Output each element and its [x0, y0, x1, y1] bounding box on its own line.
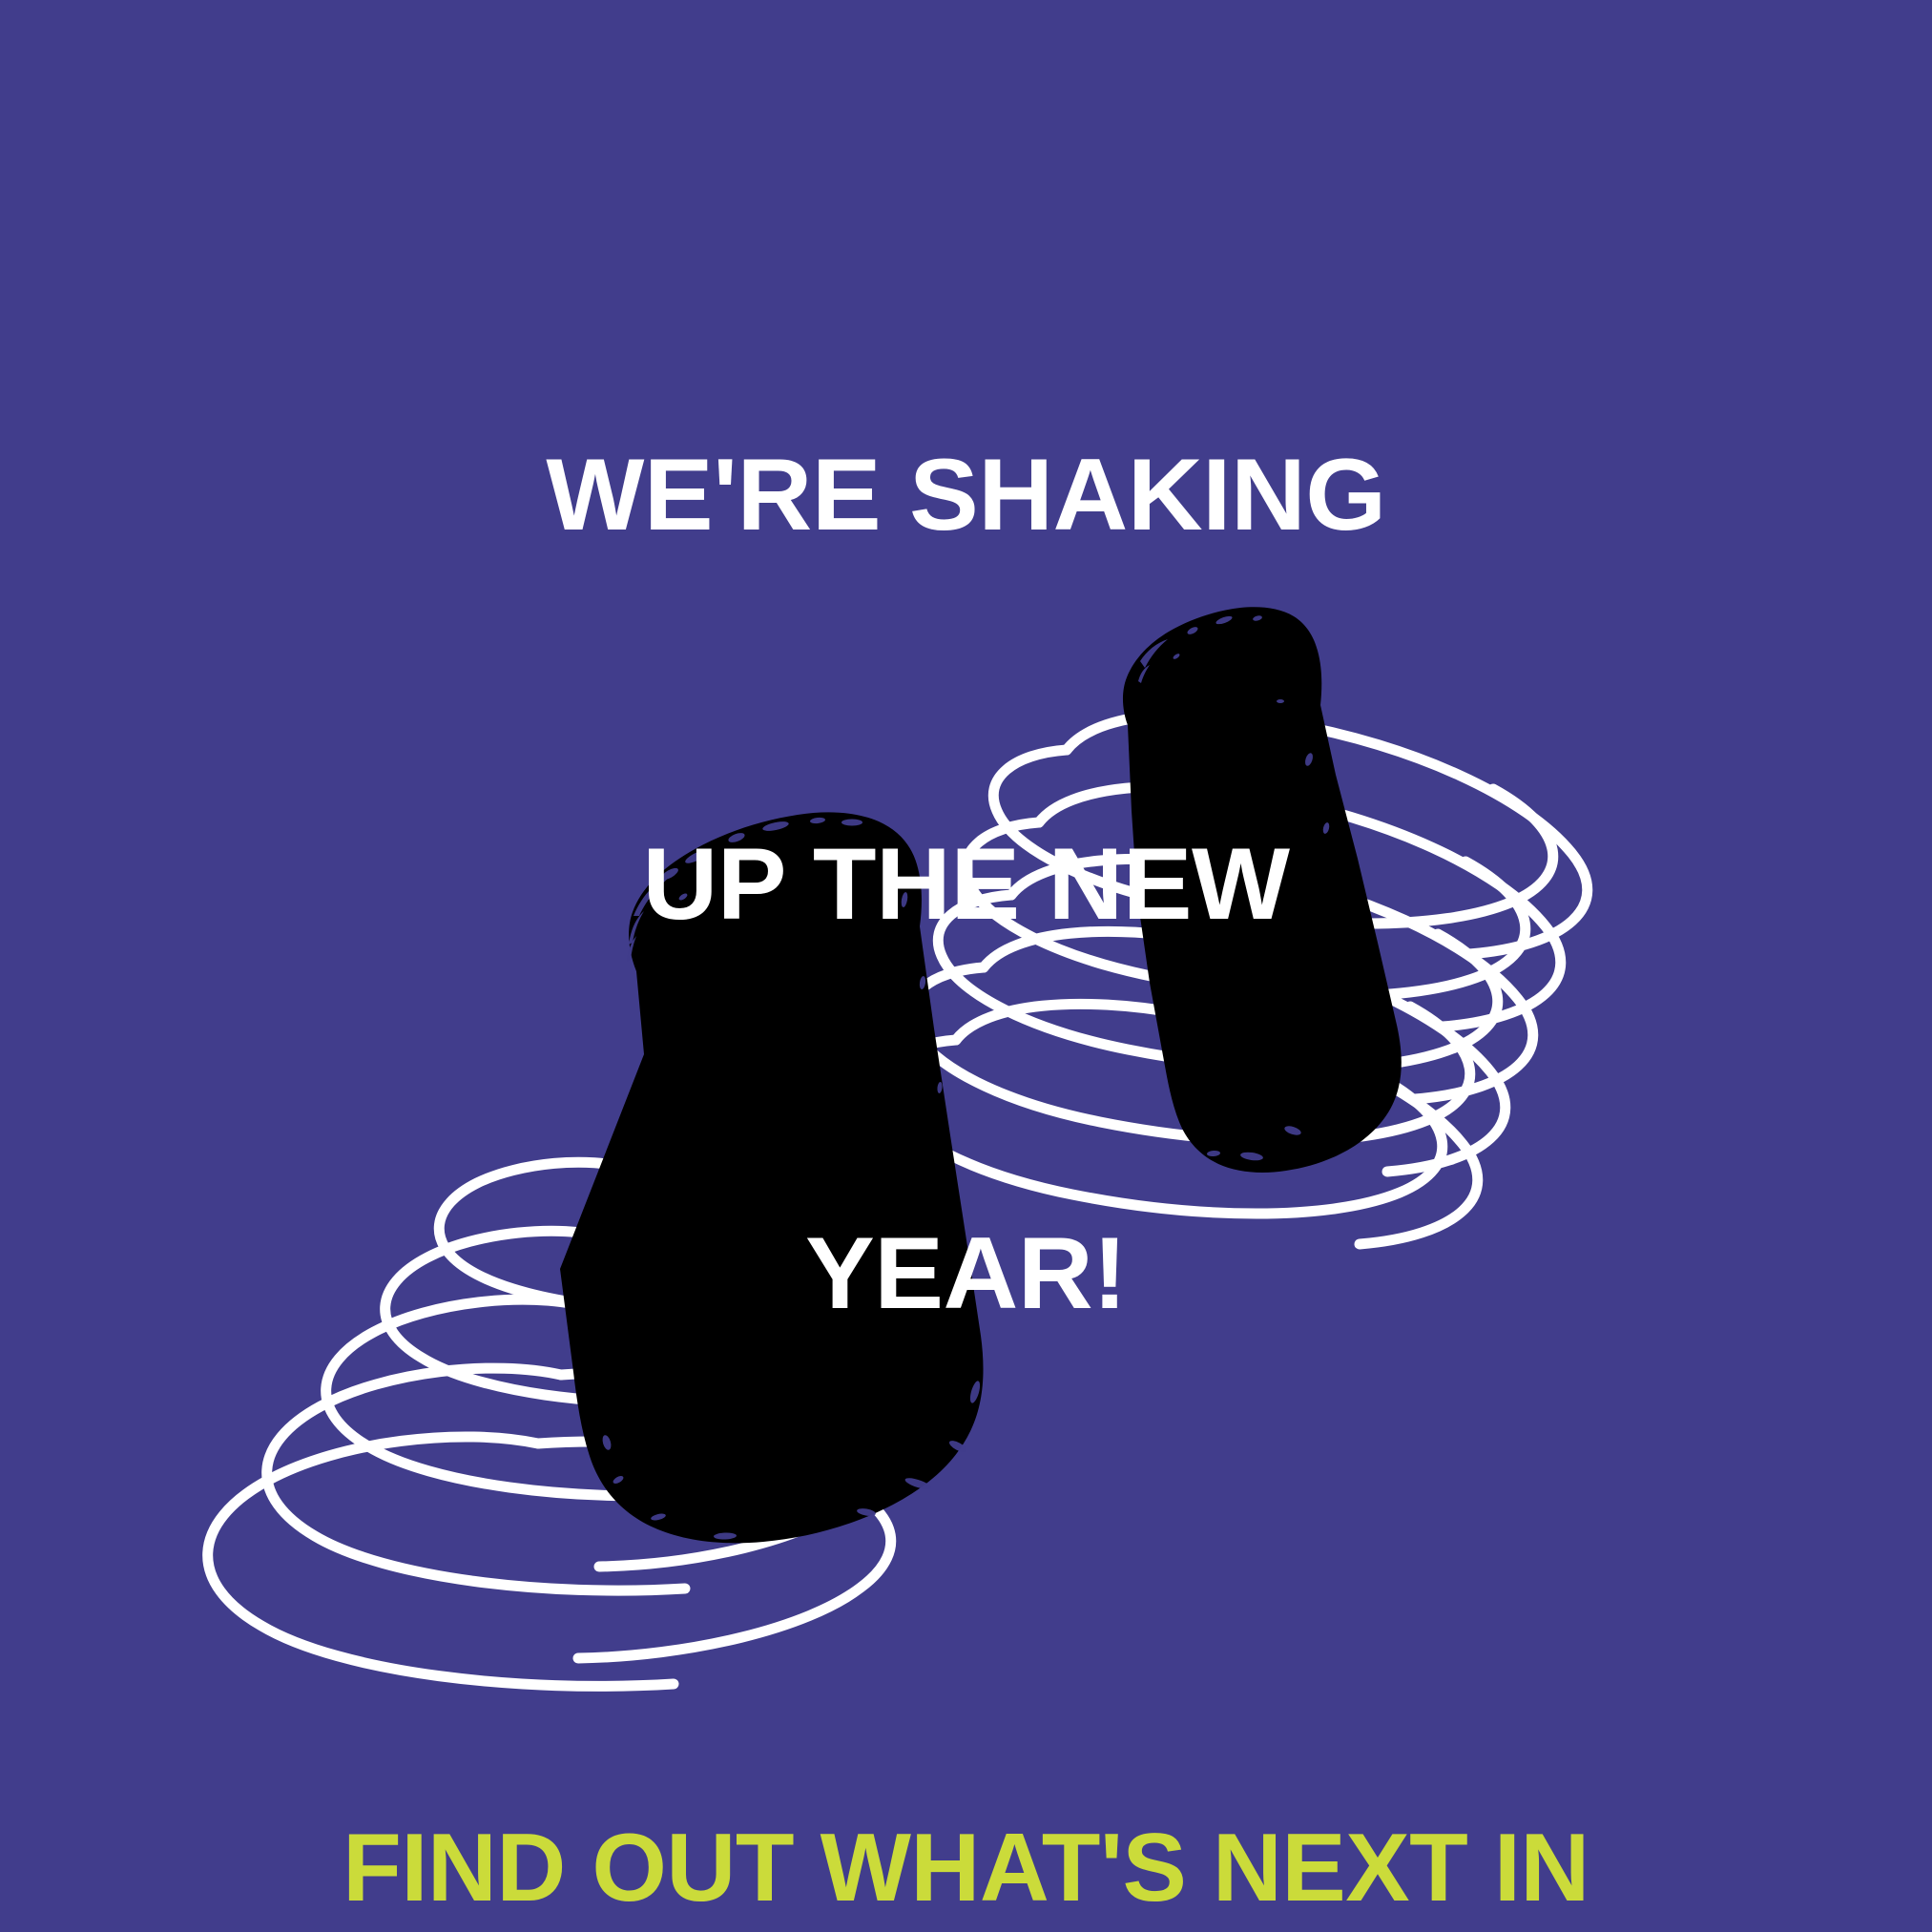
- headline-line-2: UP THE NEW: [0, 819, 1932, 948]
- subheadline: FIND OUT WHAT'S NEXT IN JANUARY...: [0, 1637, 1932, 1932]
- subheadline-line-1: FIND OUT WHAT'S NEXT IN: [0, 1822, 1932, 1915]
- headline-line-1: WE'RE SHAKING: [0, 429, 1932, 559]
- headline: WE'RE SHAKING UP THE NEW YEAR!: [0, 170, 1932, 1597]
- headline-line-3: YEAR!: [0, 1208, 1932, 1338]
- poster-canvas: WE'RE SHAKING UP THE NEW YEAR! FIND OUT …: [0, 0, 1932, 1932]
